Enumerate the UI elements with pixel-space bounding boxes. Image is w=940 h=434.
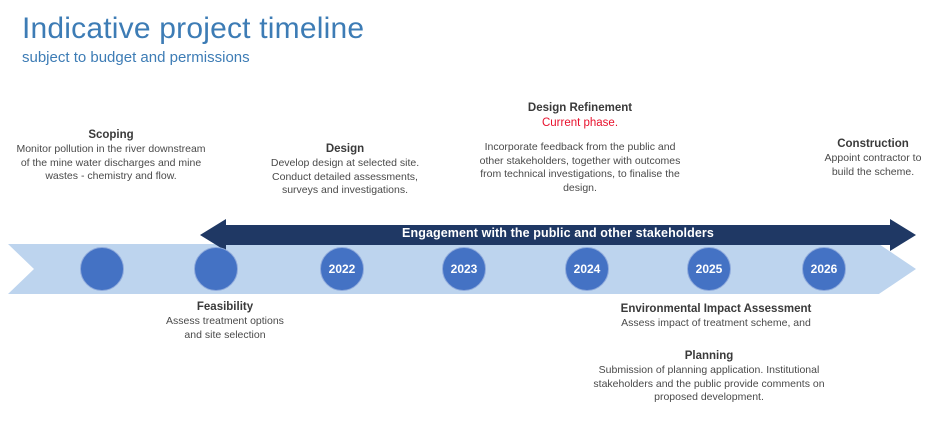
phase-feasibility: Feasibility Assess treatment options and… [158,300,292,342]
timeline-milestone-circle[interactable]: 2025 [687,247,731,291]
phase-eia-title: Environmental Impact Assessment [598,302,834,317]
engagement-arrow [200,219,916,251]
phase-planning-body: Submission of planning application. Inst… [578,364,840,405]
page-title: Indicative project timeline [22,12,364,46]
phase-design-refinement-body: Incorporate feedback from the public and… [478,141,682,195]
timeline-milestone-circle[interactable] [194,247,238,291]
phase-construction: Construction Appoint contractor to build… [814,137,932,179]
phase-design-refinement-title: Design Refinement [478,101,682,116]
timeline-milestone-circle[interactable]: 2022 [320,247,364,291]
timeline-milestone-circle[interactable]: 2026 [802,247,846,291]
phase-design-title: Design [253,142,437,157]
phase-design: Design Develop design at selected site. … [253,142,437,198]
phase-construction-title: Construction [814,137,932,152]
phase-feasibility-body: Assess treatment options and site select… [158,315,292,342]
circle-label: 2022 [329,262,356,276]
title-block: Indicative project timeline subject to b… [22,12,364,68]
current-phase-badge: Current phase. [478,116,682,131]
circle-label: 2025 [696,262,723,276]
phase-scoping-title: Scoping [16,128,206,143]
phase-design-body: Develop design at selected site. Conduct… [253,157,437,198]
circle-label: 2026 [811,262,838,276]
phase-scoping: Scoping Monitor pollution in the river d… [16,128,206,184]
phase-planning: Planning Submission of planning applicat… [578,349,840,405]
timeline-milestone-circle[interactable]: 2023 [442,247,486,291]
phase-feasibility-title: Feasibility [158,300,292,315]
phase-planning-title: Planning [578,349,840,364]
circle-label: 2023 [451,262,478,276]
phase-scoping-body: Monitor pollution in the river downstrea… [16,143,206,184]
timeline-milestone-circle[interactable]: 2024 [565,247,609,291]
phase-eia-body: Assess impact of treatment scheme, and [598,317,834,331]
phase-construction-body: Appoint contractor to build the scheme. [814,152,932,179]
circle-label: 2024 [574,262,601,276]
page-subtitle: subject to budget and permissions [22,48,364,68]
phase-environmental-impact-assessment: Environmental Impact Assessment Assess i… [598,302,834,331]
timeline-milestone-circle[interactable] [80,247,124,291]
phase-design-refinement: Design Refinement Current phase. Incorpo… [478,101,682,195]
engagement-arrow-shape [200,219,916,251]
